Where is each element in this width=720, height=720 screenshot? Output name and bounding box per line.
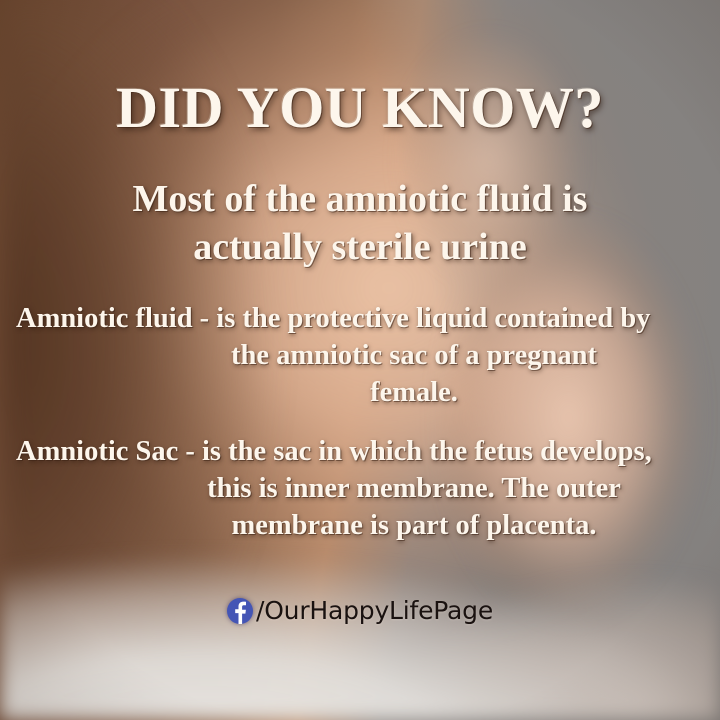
page-credit-footer[interactable]: /OurHappyLifePage <box>0 596 720 625</box>
definition-line: this is inner membrane. The outer <box>10 470 710 507</box>
facebook-f-icon[interactable] <box>227 598 253 624</box>
definition-line: the amniotic sac of a pregnant <box>10 337 710 374</box>
definition-line: Amniotic fluid - is the protective liqui… <box>10 300 710 337</box>
definition-amniotic-fluid: Amniotic fluid - is the protective liqui… <box>10 300 710 411</box>
definition-line: female. <box>10 374 710 411</box>
subheadline-line-2: actually sterile urine <box>46 224 674 272</box>
overlay-text-content: DID YOU KNOW? Most of the amniotic fluid… <box>0 0 720 720</box>
facebook-page-handle[interactable]: /OurHappyLifePage <box>256 596 493 625</box>
definitions-list: Amniotic fluid - is the protective liqui… <box>10 300 710 566</box>
subheadline: Most of the amniotic fluid is actually s… <box>46 176 674 271</box>
definition-line: membrane is part of placenta. <box>10 507 710 544</box>
subheadline-line-1: Most of the amniotic fluid is <box>46 176 674 224</box>
definition-line: Amniotic Sac - is the sac in which the f… <box>10 433 710 470</box>
definition-amniotic-sac: Amniotic Sac - is the sac in which the f… <box>10 433 710 544</box>
headline: DID YOU KNOW? <box>0 78 720 139</box>
fact-graphic-canvas: DID YOU KNOW? Most of the amniotic fluid… <box>0 0 720 720</box>
